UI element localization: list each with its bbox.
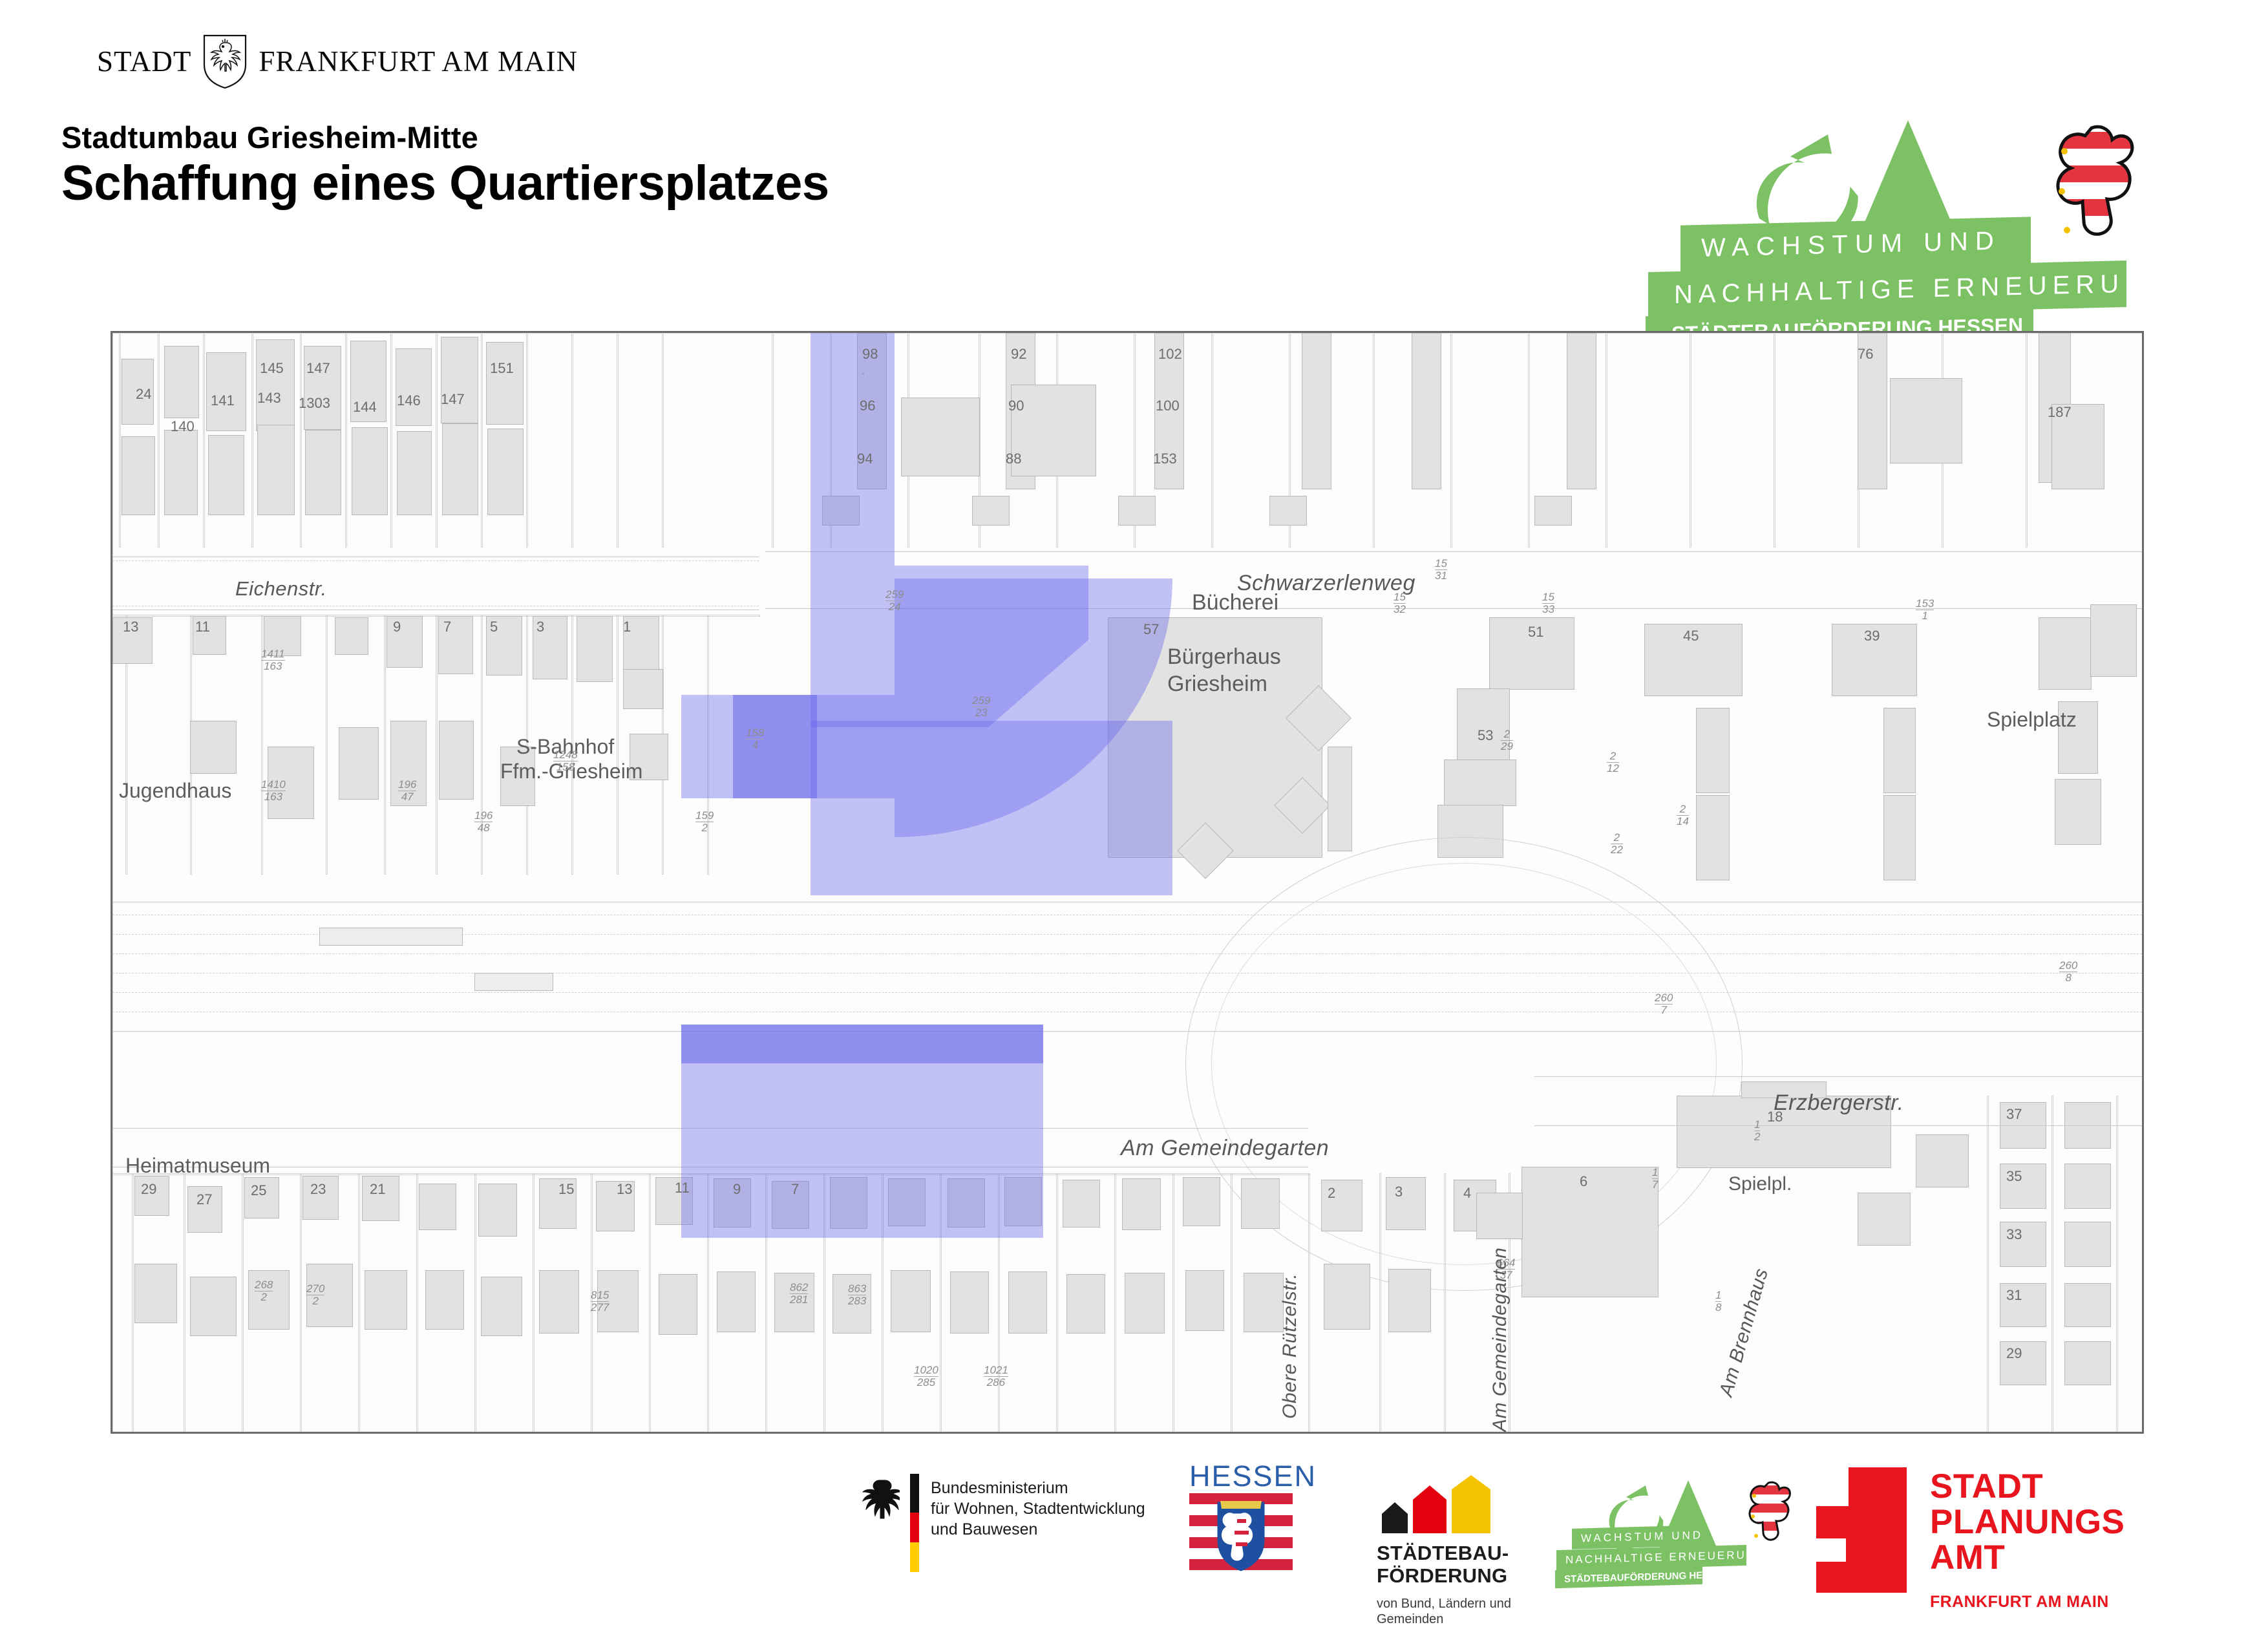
house-number: 2	[1328, 1185, 1335, 1202]
house-number: 29	[141, 1181, 156, 1198]
house-number: 39	[1864, 628, 1880, 644]
house-number: 151	[490, 360, 514, 377]
house-number: 57	[1143, 621, 1159, 638]
poi-label-jugendhaus: Jugendhaus	[119, 779, 231, 803]
house-number: 9	[393, 619, 401, 635]
house-number: 3	[536, 619, 544, 635]
federal-eagle-icon	[860, 1476, 900, 1526]
street-label-am-gemeindegarten: Am Gemeindegarten	[1121, 1136, 1329, 1161]
house-number: 15	[558, 1181, 574, 1198]
poi-label-spielpl: Spielpl.	[1728, 1173, 1792, 1195]
house-number: 146	[397, 392, 421, 409]
stadtplanungsamt-mark-icon	[1810, 1466, 1913, 1595]
house-number: 11	[195, 619, 210, 635]
house-number: 143	[257, 390, 281, 407]
parcel-fraction: 1248158	[553, 749, 578, 773]
bmwsb-line3: und Bauwesen	[931, 1519, 1145, 1540]
house-number: 11	[675, 1180, 690, 1196]
parcel-fraction: 66437	[1497, 1257, 1515, 1281]
house-number: 45	[1683, 628, 1699, 644]
house-number: 7	[443, 619, 451, 635]
house-number: 1	[623, 619, 631, 635]
flag-black-bar	[910, 1474, 919, 1513]
page-title: Schaffung eines Quartiersplatzes	[61, 155, 829, 211]
parcel-fraction: 2702	[306, 1283, 324, 1307]
poi-label-buecherei: Bücherei	[1192, 590, 1278, 615]
spa-line2: PLANUNGS	[1930, 1504, 2125, 1540]
house-number: 23	[310, 1181, 326, 1198]
parcel-fraction: 25923	[972, 695, 990, 719]
parcel-fraction: 12	[1754, 1119, 1760, 1143]
street-label-obere-ruetzelstr: Obere Rützelstr.	[1279, 1273, 1301, 1419]
sbf-sub2: Gemeinden	[1377, 1611, 1511, 1627]
three-houses-icon	[1377, 1474, 1506, 1538]
parcel-fraction: 863283	[848, 1283, 866, 1307]
house-number: 21	[370, 1181, 385, 1198]
parcel-fraction: 2682	[255, 1279, 273, 1303]
parcel-fraction: 17	[1652, 1167, 1658, 1191]
parcel-fraction: 2608	[2059, 960, 2077, 984]
house-number: 153	[1153, 451, 1177, 467]
house-number: 141	[211, 392, 235, 409]
poster-page: STADT FRANKFURT AM MAIN Stadtumbau Gries…	[0, 0, 2268, 1603]
street-label-erzbergerstr: Erzbergerstr.	[1774, 1090, 1904, 1116]
city-logo-stadt: STADT	[97, 45, 191, 78]
house-number: 92	[1011, 346, 1026, 363]
street-label-eichenstr: Eichenstr.	[235, 577, 327, 601]
house-number: 147	[441, 391, 465, 408]
project-kicker: Stadtumbau Griesheim-Mitte	[61, 120, 478, 155]
frankfurt-eagle-shield-icon	[202, 34, 248, 89]
house-number: 13	[617, 1181, 632, 1198]
highlight-area-south-strip	[681, 1025, 1043, 1063]
house-number: 102	[1158, 346, 1182, 363]
house-number: 31	[2006, 1287, 2022, 1304]
house-number: 37	[2006, 1106, 2022, 1123]
house-number: 98	[862, 346, 878, 363]
parcel-fraction: 18	[1715, 1290, 1721, 1313]
parcel-fraction: 19648	[474, 810, 493, 834]
house-number: 3	[1395, 1184, 1403, 1200]
house-number: 33	[2006, 1226, 2022, 1243]
house-number: 1303	[299, 395, 330, 412]
house-number: 7	[791, 1181, 799, 1198]
parcel-fraction: 1411163	[261, 648, 285, 672]
house-number: 51	[1528, 624, 1543, 641]
poi-label-heimatmuseum: Heimatmuseum	[125, 1154, 270, 1178]
parcel-fraction: 1531	[1435, 558, 1447, 582]
house-number: 94	[857, 451, 873, 467]
parcel-fraction: 214	[1677, 803, 1689, 827]
spa-sub: FRANKFURT AM MAIN	[1930, 1593, 2109, 1611]
hessen-lion-icon-small	[1736, 1476, 1807, 1560]
parcel-fraction: 25924	[885, 589, 904, 613]
hessen-flag-icon	[1189, 1493, 1293, 1577]
sbf-line2: FÖRDERUNG	[1377, 1565, 1509, 1588]
flag-gold-bar	[910, 1542, 919, 1572]
house-number: 24	[136, 386, 151, 403]
house-number: 145	[260, 360, 284, 377]
house-number: 25	[251, 1182, 266, 1199]
house-number: 88	[1006, 451, 1021, 467]
house-number: 100	[1156, 398, 1180, 414]
house-number: 147	[306, 360, 330, 377]
parcel-fraction: 212	[1607, 750, 1619, 774]
house-number: 96	[860, 398, 875, 414]
city-of-frankfurt-logo: STADT FRANKFURT AM MAIN	[97, 34, 578, 89]
poi-label-spielplatz: Spielplatz	[1987, 708, 2077, 732]
program-footer-line1: WACHSTUM UND	[1572, 1525, 1704, 1549]
house-number: 18	[1767, 1109, 1783, 1125]
parcel-fraction: 815277	[591, 1290, 609, 1313]
program-logo-header: WACHSTUM UND NACHHALTIGE ERNEUERUNG STÄD…	[1680, 97, 2210, 368]
house-number: 9	[733, 1181, 741, 1198]
program-logo-footer: WACHSTUM UND NACHHALTIGE ERNEUERUNG STÄD…	[1558, 1462, 1829, 1591]
parcel-fraction: 1021286	[984, 1365, 1008, 1388]
parcel-fraction: 229	[1501, 728, 1513, 752]
map-canvas: Eichenstr. Schwarzerlenweg Erzbergerstr.…	[112, 333, 2142, 1432]
house-number: 144	[353, 399, 377, 416]
house-number: 35	[2006, 1168, 2022, 1185]
hessen-wordmark: HESSEN	[1189, 1460, 1306, 1493]
stadtplanungsamt-logo: STADT PLANUNGS AMT FRANKFURT AM MAIN	[1810, 1463, 2172, 1593]
parcel-fraction: 862281	[790, 1282, 808, 1306]
program-footer-line3: STÄDTEBAUFÖRDERUNG HESSEN	[1555, 1566, 1702, 1588]
parcel-fraction: 1410163	[261, 779, 286, 803]
parcel-fraction: 1020285	[914, 1365, 938, 1388]
parcel-fraction: 1531	[1916, 598, 1934, 622]
sbf-sub1: von Bund, Ländern und	[1377, 1596, 1511, 1611]
house-number: 29	[2006, 1345, 2022, 1362]
parcel-fraction: 1532	[1394, 591, 1406, 615]
parcel-fraction: 1533	[1542, 591, 1554, 615]
bmwsb-line2: für Wohnen, Stadtentwicklung	[931, 1498, 1145, 1519]
funding-logos-strip: Bundesministerium für Wohnen, Stadtentwi…	[0, 1454, 2268, 1603]
hessen-logo: HESSEN	[1189, 1460, 1306, 1582]
cadastral-map[interactable]: Eichenstr. Schwarzerlenweg Erzbergerstr.…	[111, 331, 2144, 1434]
parcel-fraction: 222	[1611, 832, 1623, 856]
house-number: 187	[2048, 404, 2072, 421]
house-number: 53	[1478, 727, 1493, 744]
house-number: 13	[123, 619, 138, 635]
house-number: 140	[171, 418, 195, 435]
spa-line3: AMT	[1930, 1540, 2125, 1575]
bmwsb-logo: Bundesministerium für Wohnen, Stadtentwi…	[860, 1469, 1222, 1566]
poi-label-griesheim: Griesheim	[1167, 672, 1267, 697]
house-number: 27	[196, 1191, 212, 1208]
flag-red-bar	[910, 1513, 919, 1542]
bmwsb-line1: Bundesministerium	[931, 1478, 1145, 1498]
poi-label-buergerhaus: Bürgerhaus	[1167, 644, 1281, 670]
house-number: 5	[490, 619, 498, 635]
hessen-lion-icon	[2030, 115, 2165, 283]
house-number: 6	[1580, 1173, 1587, 1190]
parcel-fraction: 2607	[1655, 992, 1673, 1016]
parcel-fraction: 1584	[746, 727, 764, 751]
city-logo-frankfurt-am-main: FRANKFURT AM MAIN	[259, 45, 578, 78]
parcel-fraction: 1592	[695, 810, 714, 834]
spa-line1: STADT	[1930, 1469, 2125, 1504]
parcel-fraction: 19647	[398, 779, 416, 803]
house-number: 4	[1463, 1185, 1471, 1202]
house-number: 76	[1858, 346, 1873, 363]
sbf-line1: STÄDTEBAU-	[1377, 1542, 1509, 1565]
house-number: 90	[1008, 398, 1024, 414]
highlight-area-north	[811, 331, 895, 566]
